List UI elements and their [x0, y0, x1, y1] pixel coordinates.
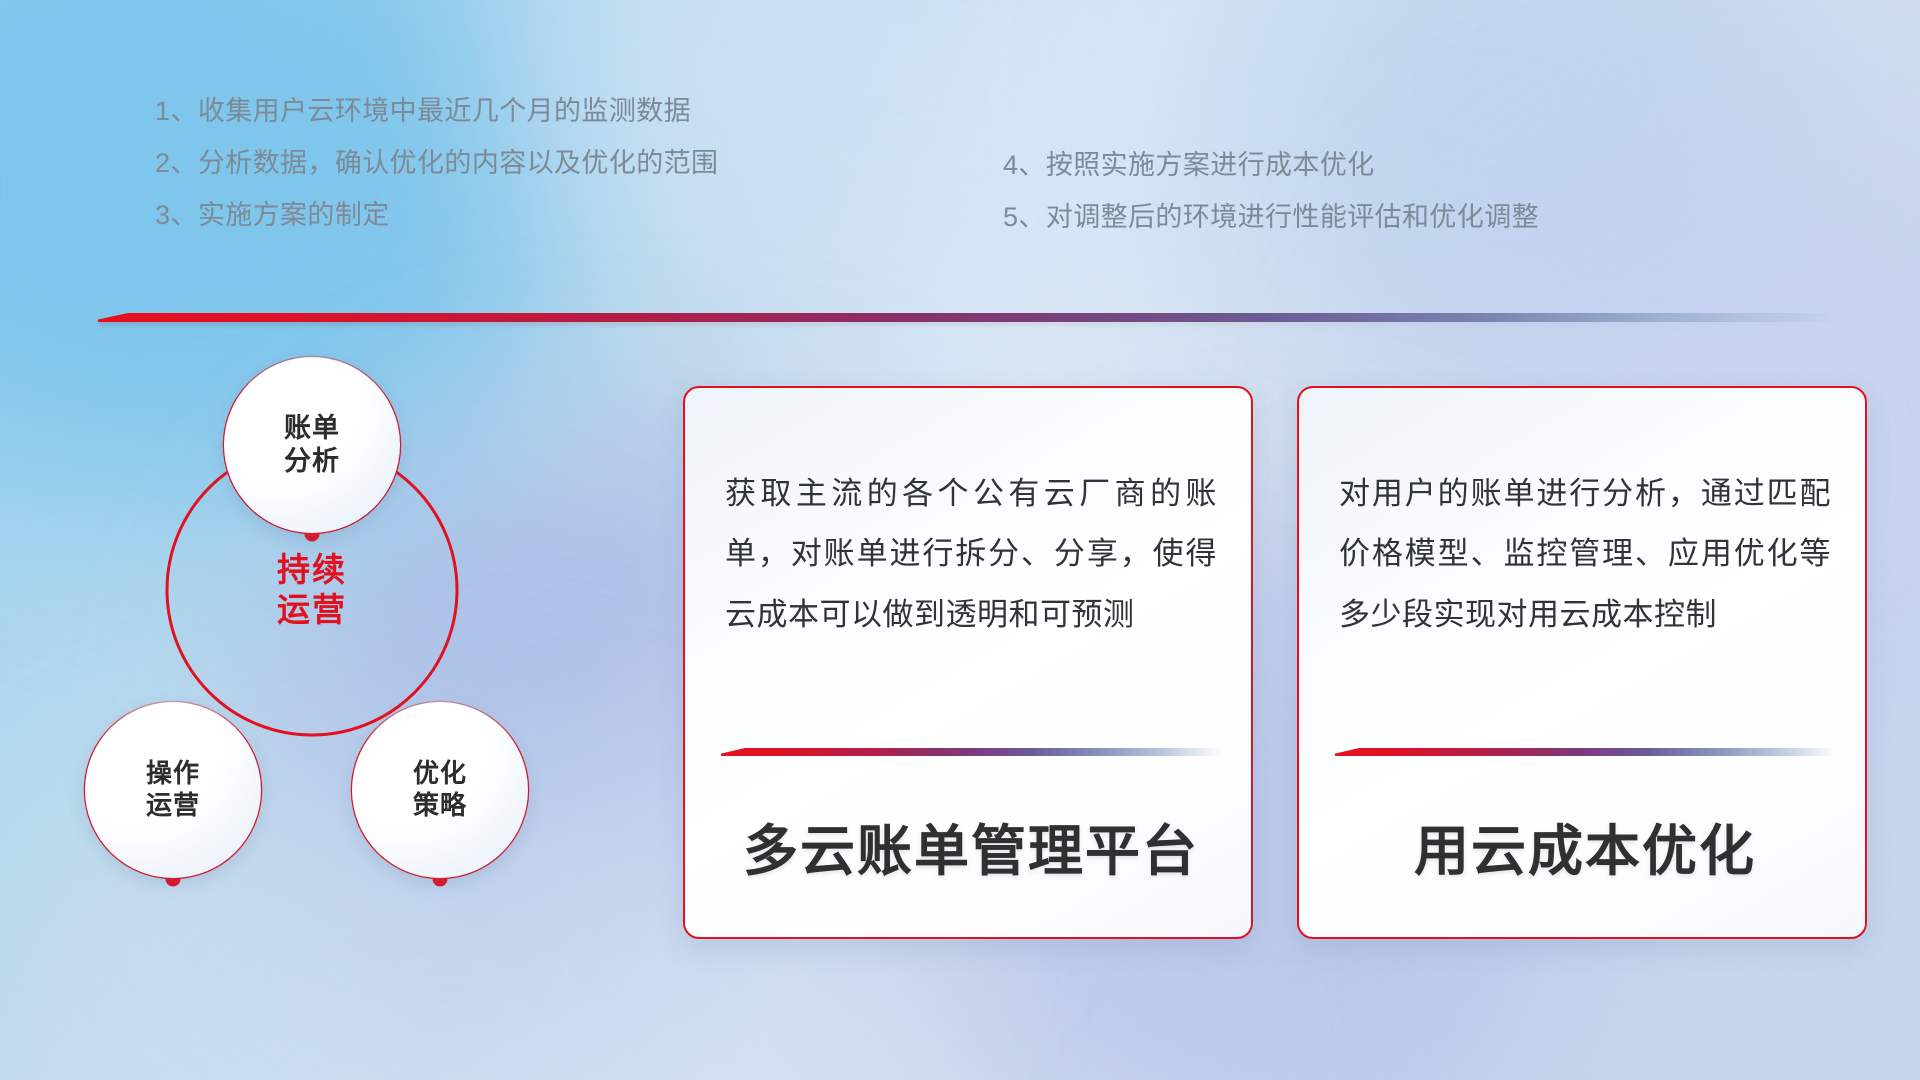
node-label-line1: 优化 — [413, 758, 467, 790]
step-item-5: 5、对调整后的环境进行性能评估和优化调整 — [1003, 204, 1539, 231]
node-label-line2: 策略 — [413, 790, 467, 822]
card-accent-rule — [1335, 748, 1835, 756]
card-cloud-cost-optimization[interactable]: 对用户的账单进行分析，通过匹配价格模型、监控管理、应用优化等多少段实现对用云成本… — [1297, 386, 1867, 939]
card-accent-rule — [721, 748, 1221, 756]
diagram-node-optimization-strategy[interactable]: 优化 策略 — [352, 702, 528, 878]
card-title: 用云成本优化 — [1335, 806, 1835, 886]
center-label-line2: 运营 — [277, 590, 347, 630]
node-label-line2: 分析 — [284, 445, 340, 478]
card-title: 多云账单管理平台 — [721, 806, 1221, 886]
diagram-center-label: 持续 运营 — [250, 528, 374, 652]
step-item-3: 3、实施方案的制定 — [155, 202, 718, 229]
slide-canvas: 1、收集用户云环境中最近几个月的监测数据 2、分析数据，确认优化的内容以及优化的… — [0, 0, 1920, 1080]
section-divider — [98, 313, 1838, 322]
step-item-2: 2、分析数据，确认优化的内容以及优化的范围 — [155, 150, 718, 177]
steps-list-right: 4、按照实施方案进行成本优化 5、对调整后的环境进行性能评估和优化调整 — [1003, 152, 1539, 256]
card-body-text: 获取主流的各个公有云厂商的账单，对账单进行拆分、分享，使得云成本可以做到透明和可… — [725, 464, 1217, 645]
diagram-node-operation[interactable]: 操作 运营 — [85, 702, 261, 878]
node-label-line1: 账单 — [284, 412, 340, 445]
diagram-node-billing-analysis[interactable]: 账单 分析 — [224, 357, 400, 533]
step-item-4: 4、按照实施方案进行成本优化 — [1003, 152, 1539, 179]
center-label-line1: 持续 — [277, 550, 347, 590]
steps-list-left: 1、收集用户云环境中最近几个月的监测数据 2、分析数据，确认优化的内容以及优化的… — [155, 98, 718, 254]
card-multi-cloud-billing-platform[interactable]: 获取主流的各个公有云厂商的账单，对账单进行拆分、分享，使得云成本可以做到透明和可… — [683, 386, 1253, 939]
continuous-operation-diagram: 账单 分析 操作 运营 优化 策略 持续 运营 — [100, 348, 660, 948]
card-body-text: 对用户的账单进行分析，通过匹配价格模型、监控管理、应用优化等多少段实现对用云成本… — [1339, 464, 1831, 645]
node-label-line1: 操作 — [146, 758, 200, 790]
node-label-line2: 运营 — [146, 790, 200, 822]
step-item-1: 1、收集用户云环境中最近几个月的监测数据 — [155, 98, 718, 125]
